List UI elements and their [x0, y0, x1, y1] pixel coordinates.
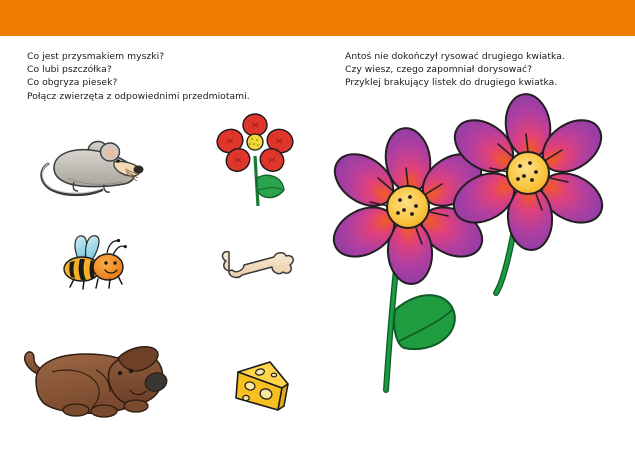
cheese-illustration[interactable] [230, 358, 292, 416]
orange-header-bar [0, 0, 635, 36]
bone-illustration[interactable] [218, 240, 298, 284]
instruction-line: Połącz zwierzęta z odpowiednimi przedmio… [27, 90, 250, 103]
dog-illustration[interactable] [18, 338, 170, 420]
instruction-line: Czy wiesz, czego zapomniał dorysować? [345, 63, 565, 76]
flower-missing-leaf-illustration[interactable] [456, 108, 621, 398]
bee-illustration[interactable] [52, 233, 130, 295]
instruction-line: Antoś nie dokończył rysować drugiego kwi… [345, 50, 565, 63]
instruction-line: Co lubi pszczółka? [27, 63, 250, 76]
instruction-line: Co obgryza piesek? [27, 76, 250, 89]
red-flower-illustration[interactable] [212, 112, 298, 208]
instruction-line: Przyklej brakujący listek do drugiego kw… [345, 76, 565, 89]
right-exercise-instructions: Antoś nie dokończył rysować drugiego kwi… [345, 50, 565, 90]
mouse-illustration[interactable] [38, 138, 146, 200]
instruction-line: Co jest przysmakiem myszki? [27, 50, 250, 63]
left-exercise-instructions: Co jest przysmakiem myszki? Co lubi pszc… [27, 50, 250, 103]
worksheet-page: Co jest przysmakiem myszki? Co lubi pszc… [0, 0, 635, 456]
